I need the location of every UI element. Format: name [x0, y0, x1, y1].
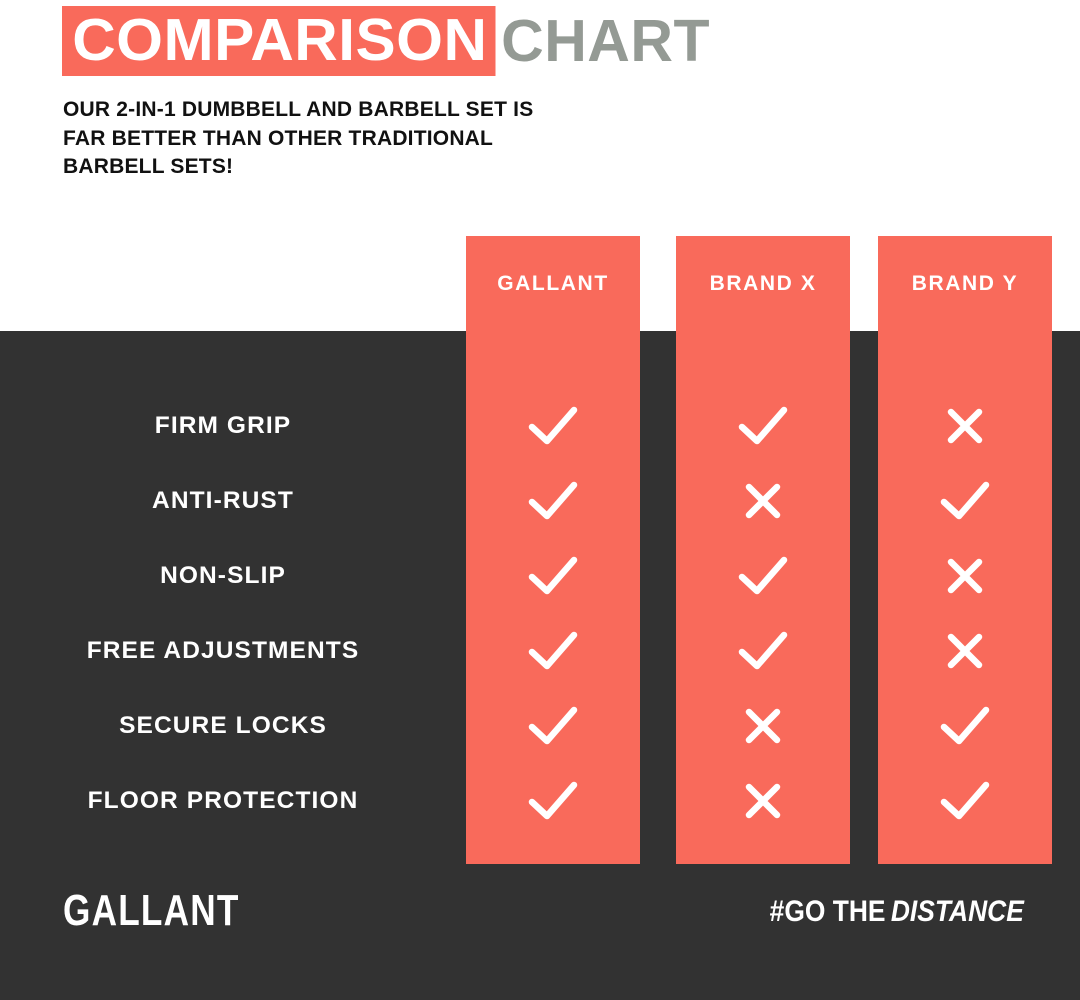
column-header-brand-y: BRAND Y	[878, 236, 1052, 331]
check-icon	[676, 403, 850, 449]
subtitle: OUR 2-IN-1 DUMBBELL AND BARBELL SET IS F…	[63, 96, 663, 182]
subtitle-line-3: BARBELL SETS!	[63, 153, 663, 182]
check-icon	[466, 478, 640, 524]
feature-label-4: SECURE LOCKS	[0, 706, 446, 746]
check-icon	[466, 628, 640, 674]
brand-column-brand-y: BRAND Y	[878, 236, 1052, 864]
check-icon	[466, 703, 640, 749]
brand-column-brand-x: BRAND X	[676, 236, 850, 864]
check-icon	[676, 628, 850, 674]
title-plain-chart: CHART	[487, 7, 710, 75]
feature-label-1: ANTI-RUST	[0, 481, 446, 521]
tagline-prefix: #GO THE	[770, 895, 886, 928]
title-highlight-comparison: COMPARISON	[62, 6, 496, 76]
check-icon	[878, 778, 1052, 824]
check-icon	[466, 553, 640, 599]
check-icon	[676, 553, 850, 599]
subtitle-line-2: FAR BETTER THAN OTHER TRADITIONAL	[63, 125, 663, 154]
cross-icon	[878, 403, 1052, 449]
brand-column-gallant: GALLANT	[466, 236, 640, 864]
footer-tagline: #GO THEDISTANCE	[770, 893, 1024, 931]
cross-icon	[676, 703, 850, 749]
column-header-gallant: GALLANT	[466, 236, 640, 331]
column-header-brand-x: BRAND X	[676, 236, 850, 331]
check-icon	[878, 478, 1052, 524]
comparison-chart-page: COMPARISON CHART OUR 2-IN-1 DUMBBELL AND…	[0, 0, 1080, 1000]
feature-label-3: FREE ADJUSTMENTS	[0, 631, 446, 671]
feature-label-0: FIRM GRIP	[0, 406, 446, 446]
cross-icon	[676, 778, 850, 824]
tagline-italic-word: DISTANCE	[886, 895, 1024, 928]
page-title: COMPARISON CHART	[62, 6, 710, 76]
feature-label-5: FLOOR PROTECTION	[0, 781, 446, 821]
cross-icon	[676, 478, 850, 524]
feature-label-2: NON-SLIP	[0, 556, 446, 596]
footer-brand-logo: GALLANT	[63, 886, 240, 936]
check-icon	[466, 778, 640, 824]
check-icon	[466, 403, 640, 449]
subtitle-line-1: OUR 2-IN-1 DUMBBELL AND BARBELL SET IS	[63, 96, 663, 125]
check-icon	[878, 703, 1052, 749]
cross-icon	[878, 553, 1052, 599]
cross-icon	[878, 628, 1052, 674]
